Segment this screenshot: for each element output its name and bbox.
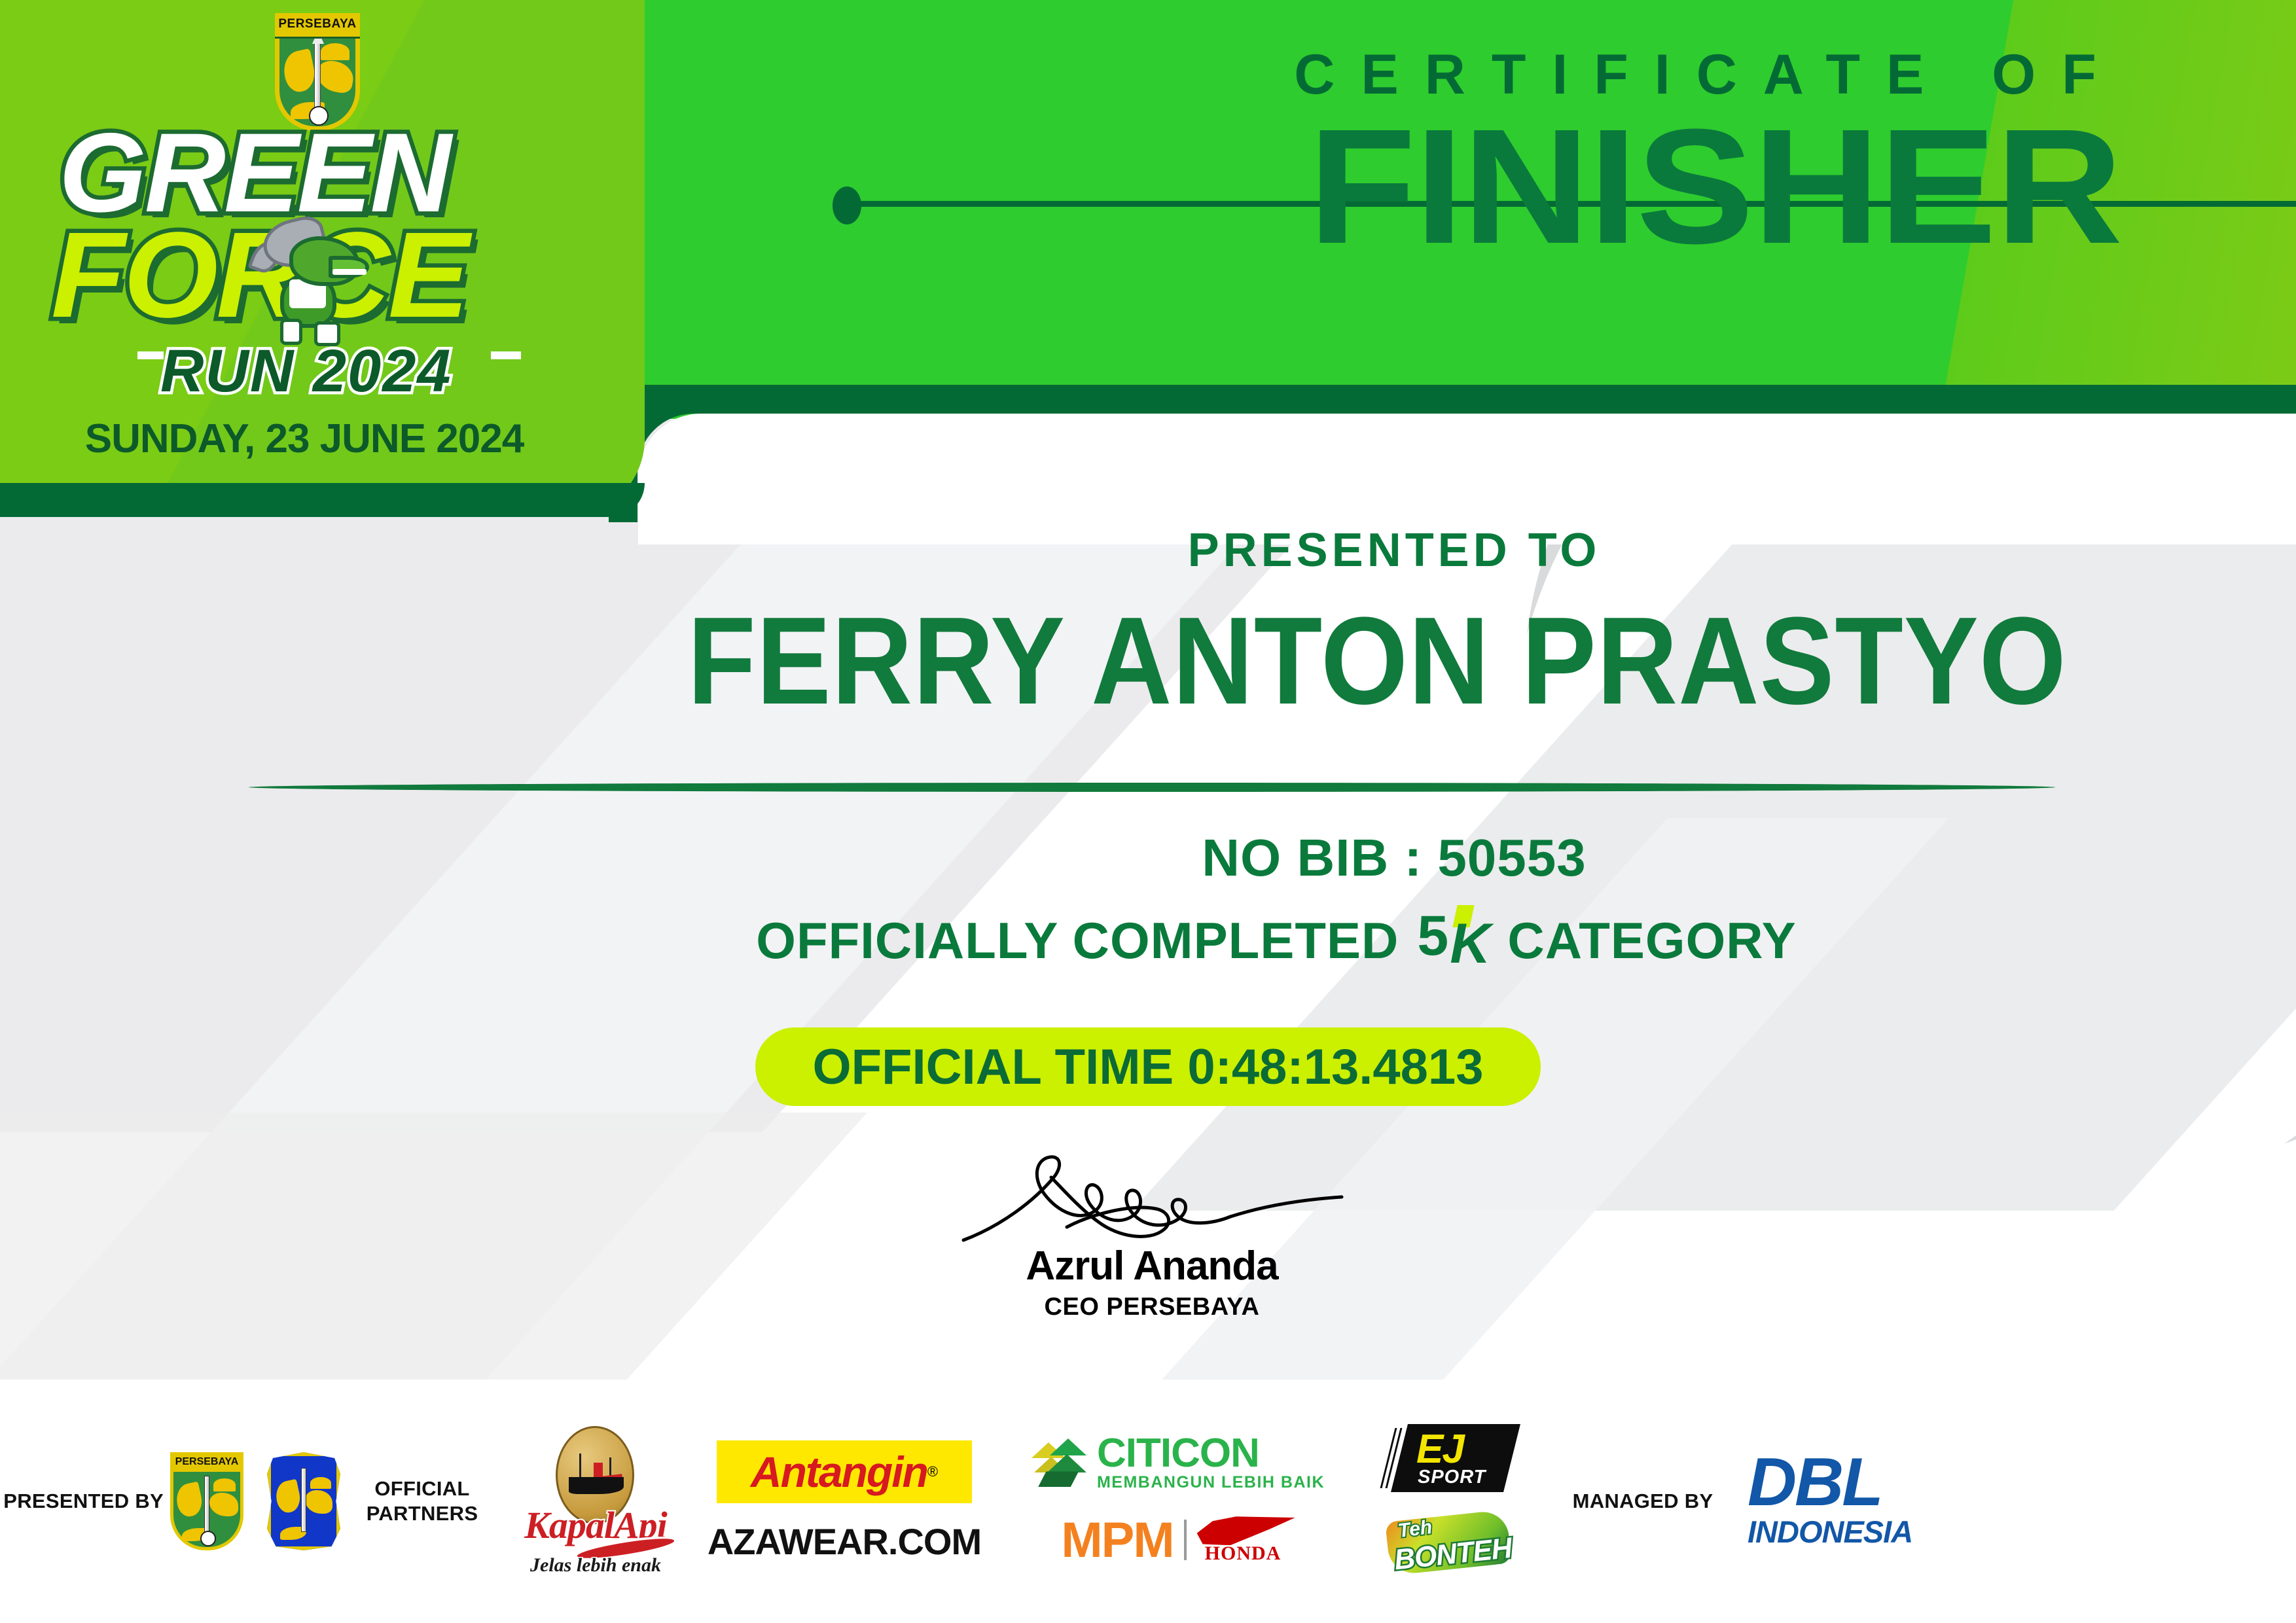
persebaya-footer-crest-icon: PERSEBAYA <box>170 1452 243 1550</box>
presented-by-logos: PERSEBAYA <box>164 1452 347 1550</box>
presented-by-label: PRESENTED BY <box>3 1489 164 1514</box>
name-divider-rule <box>249 783 2055 792</box>
antangin-logo-icon: Antangin® <box>717 1440 972 1503</box>
category-suffix-text: CATEGORY <box>1507 911 1796 971</box>
citicon-cube-b <box>1050 1438 1086 1455</box>
official-partners-label: OFFICIAL PARTNERS <box>367 1476 478 1526</box>
crest-fin-shape <box>321 43 350 60</box>
mpm-honda-logo-icon: MPM HONDA <box>1061 1512 1295 1569</box>
footer-crest-fin <box>213 1478 236 1491</box>
antangin-trademark: ® <box>927 1463 938 1480</box>
surabaya-city-crest-icon <box>267 1452 340 1550</box>
ej-bonteh-group: EJ SPORT Teh BONTEH <box>1361 1424 1538 1578</box>
signatory-name: Azrul Ananda <box>903 1243 1401 1289</box>
mpm-name-text: MPM <box>1061 1512 1173 1569</box>
managed-by-group: MANAGED BY <box>1538 1489 1748 1514</box>
managed-by-label: MANAGED BY <box>1573 1489 1713 1514</box>
recipient-name: FERRY ANTON PRASTYO <box>550 599 2204 723</box>
presented-to-label: PRESENTED TO <box>641 524 2147 577</box>
citicon-mpm-group: CITICON MEMBANGUN LEBIH BAIK MPM HONDA <box>995 1434 1361 1569</box>
citicon-text-group: CITICON MEMBANGUN LEBIH BAIK <box>1097 1434 1325 1492</box>
wordmark-run-bar-left <box>137 351 164 359</box>
category-row: OFFICIALLY COMPLETED 5 K CATEGORY <box>458 906 2094 974</box>
mascot-leg-right <box>314 321 340 346</box>
kapal-api-ship-icon <box>569 1464 624 1499</box>
mascot-leg-left <box>280 319 302 345</box>
city-crest-monument <box>301 1468 306 1532</box>
ej-sport-logo-icon: EJ SPORT <box>1388 1424 1512 1492</box>
city-crest-fin <box>310 1477 331 1489</box>
official-time-text: OFFICIAL TIME 0:48:13.4813 <box>813 1039 1484 1096</box>
citicon-logo-icon: CITICON MEMBANGUN LEBIH BAIK <box>1031 1434 1325 1492</box>
dbl-logo-group: DBL INDONESIA <box>1748 1453 2022 1550</box>
footer-crest-label: PERSEBAYA <box>170 1452 243 1472</box>
certificate-finisher-title: FINISHER <box>1128 105 2296 268</box>
crest-name-text: PERSEBAYA <box>275 13 360 35</box>
event-date-text: SUNDAY, 23 JUNE 2024 <box>0 416 609 462</box>
event-logo-panel: PERSEBAYA GREEN FORCE RUN 2024 SUNDAY, 2 <box>0 0 645 517</box>
signature-icon <box>923 1149 1381 1247</box>
honda-name-text: HONDA <box>1205 1543 1282 1565</box>
antangin-name-text: Antangin <box>751 1447 927 1497</box>
kapal-api-logo-group: KapalApi Jelas lebih enak <box>497 1426 694 1577</box>
bib-number-text: NO BIB : 50553 <box>641 828 2147 888</box>
footer-crest-monument <box>204 1476 209 1536</box>
official-partners-group: OFFICIAL PARTNERS <box>347 1476 497 1526</box>
kapal-api-logo-icon: KapalApi Jelas lebih enak <box>514 1426 677 1577</box>
sponsor-footer: PRESENTED BY PERSEBAYA <box>0 1380 2296 1623</box>
five-k-badge-icon: 5 K <box>1417 906 1489 974</box>
completed-prefix-text: OFFICIALLY COMPLETED <box>756 911 1399 971</box>
dbl-main-text: DBL <box>1748 1453 1912 1513</box>
citicon-tagline-text: MEMBANGUN LEBIH BAIK <box>1097 1473 1325 1492</box>
footer-crest-ball <box>200 1531 216 1546</box>
signature-block: Azrul Ananda CEO PERSEBAYA <box>903 1149 1401 1321</box>
green-force-wordmark: GREEN FORCE RUN 2024 <box>39 121 609 337</box>
crest-monument-shape <box>314 42 321 114</box>
mascot-teeth <box>332 269 367 275</box>
kapal-api-tagline-text: Jelas lebih enak <box>514 1554 677 1577</box>
ship-hull <box>569 1477 624 1494</box>
five-k-number: 5 <box>1417 908 1448 964</box>
ship-mast-right <box>609 1457 611 1477</box>
five-k-unit: K <box>1450 916 1490 972</box>
wordmark-run-bar-right <box>491 351 521 359</box>
citicon-cube-d <box>1047 1454 1086 1472</box>
ship-funnel <box>594 1463 603 1477</box>
citicon-cube-e <box>1038 1471 1079 1487</box>
ej-sub-text: SPORT <box>1418 1467 1486 1488</box>
bonteh-top-text: Teh <box>1397 1516 1433 1543</box>
certificate-canvas: PERSEBAYA GREEN FORCE RUN 2024 SUNDAY, 2 <box>0 0 2296 1623</box>
mascot-shark-crocodile-icon <box>249 219 370 350</box>
decorative-dot <box>833 187 861 224</box>
mpm-divider <box>1184 1520 1187 1560</box>
footer-crest-band: PERSEBAYA <box>170 1452 243 1472</box>
citicon-name-text: CITICON <box>1097 1434 1325 1473</box>
azawear-text: AZAWEAR.COM <box>708 1520 981 1563</box>
official-time-badge: OFFICIAL TIME 0:48:13.4813 <box>755 1027 1541 1106</box>
ej-name-text: EJ <box>1416 1429 1463 1470</box>
presented-by-group: PRESENTED BY <box>0 1489 164 1514</box>
crest-name-band: PERSEBAYA <box>275 13 360 39</box>
dbl-indonesia-logo-icon: DBL INDONESIA <box>1748 1453 1912 1550</box>
honda-wing-shape <box>1197 1516 1295 1545</box>
signatory-role: CEO PERSEBAYA <box>903 1293 1401 1321</box>
dbl-sub-text: INDONESIA <box>1748 1514 1912 1550</box>
teh-bonteh-logo-icon: Teh BONTEH <box>1388 1507 1512 1578</box>
citicon-cube-icon <box>1031 1437 1088 1488</box>
antangin-azawear-group: Antangin® AZAWEAR.COM <box>694 1440 995 1563</box>
ship-mast-left <box>579 1454 581 1477</box>
event-logo-panel-bottom-bar <box>0 483 645 517</box>
honda-logo-icon: HONDA <box>1197 1515 1295 1565</box>
